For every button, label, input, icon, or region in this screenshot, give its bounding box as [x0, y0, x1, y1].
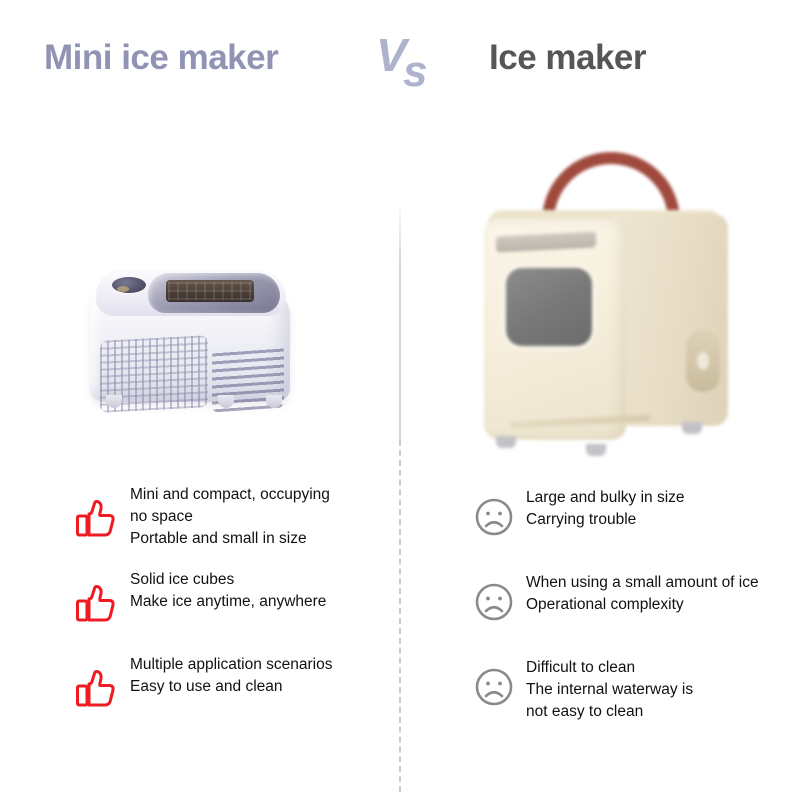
list-item: Mini and compact, occupying no space Por… — [72, 482, 392, 567]
comparison-infographic: Mini ice maker V s Ice maker — [0, 0, 800, 800]
list-item-line: Solid ice cubes — [130, 569, 326, 591]
list-item-line: no space — [130, 506, 330, 528]
list-item-text: Large and bulky in size Carrying trouble — [518, 485, 685, 531]
list-item-text: Mini and compact, occupying no space Por… — [120, 482, 330, 550]
list-item: Large and bulky in size Carrying trouble — [470, 485, 800, 570]
list-item-line: Carrying trouble — [526, 509, 685, 531]
vs-letter-s: s — [403, 50, 427, 94]
thumbs-up-icon — [72, 494, 120, 542]
mini-transparent-lid — [148, 273, 280, 313]
large-foot — [586, 444, 606, 456]
list-item-line: Make ice anytime, anywhere — [130, 591, 326, 613]
large-front-seam — [510, 414, 650, 428]
list-item-text: Difficult to clean The internal waterway… — [518, 655, 693, 723]
list-item: Solid ice cubes Make ice anytime, anywhe… — [72, 567, 392, 652]
sad-face-icon — [470, 493, 518, 541]
list-item-line: Difficult to clean — [526, 657, 693, 679]
list-item: Difficult to clean The internal waterway… — [470, 655, 800, 740]
divider-solid-segment — [399, 200, 401, 442]
list-item-line: The internal waterway is — [526, 679, 693, 701]
large-foot — [496, 436, 516, 448]
sad-face-icon — [470, 663, 518, 711]
mini-ice-maker-image — [90, 270, 295, 415]
large-viewing-window — [506, 268, 592, 346]
list-item-text: Multiple application scenarios Easy to u… — [120, 652, 332, 698]
list-item-text: Solid ice cubes Make ice anytime, anywhe… — [120, 567, 326, 613]
list-item-line: not easy to clean — [526, 701, 693, 723]
thumbs-up-icon — [72, 579, 120, 627]
list-item-line: Portable and small in size — [130, 528, 330, 550]
large-foot — [682, 422, 702, 434]
list-item-line: Large and bulky in size — [526, 487, 685, 509]
list-item-line: When using a small amount of ice — [526, 572, 759, 594]
right-product-stage — [440, 140, 760, 460]
large-side-knob — [686, 330, 720, 392]
mini-top-shell — [96, 270, 286, 316]
list-item-line: Operational complexity — [526, 594, 759, 616]
pros-list: Mini and compact, occupying no space Por… — [72, 482, 392, 737]
list-item: Multiple application scenarios Easy to u… — [72, 652, 392, 737]
left-product-title: Mini ice maker — [44, 38, 278, 78]
list-item: When using a small amount of ice Operati… — [470, 570, 800, 655]
list-item-text: When using a small amount of ice Operati… — [518, 570, 759, 616]
left-product-stage — [60, 250, 360, 450]
list-item-line: Easy to use and clean — [130, 676, 332, 698]
large-ice-maker-image — [460, 152, 750, 452]
cons-list: Large and bulky in size Carrying trouble… — [470, 485, 800, 740]
vs-badge: V s — [376, 32, 456, 108]
divider-dashed-segment — [399, 440, 401, 792]
right-product-title: Ice maker — [489, 38, 646, 78]
header: Mini ice maker V s Ice maker — [0, 36, 800, 106]
mini-water-port — [112, 277, 146, 293]
large-side-panel — [610, 214, 728, 426]
list-item-line: Mini and compact, occupying — [130, 484, 330, 506]
sad-face-icon — [470, 578, 518, 626]
mini-ice-tray — [166, 280, 254, 302]
list-item-line: Multiple application scenarios — [130, 654, 332, 676]
thumbs-up-icon — [72, 664, 120, 712]
